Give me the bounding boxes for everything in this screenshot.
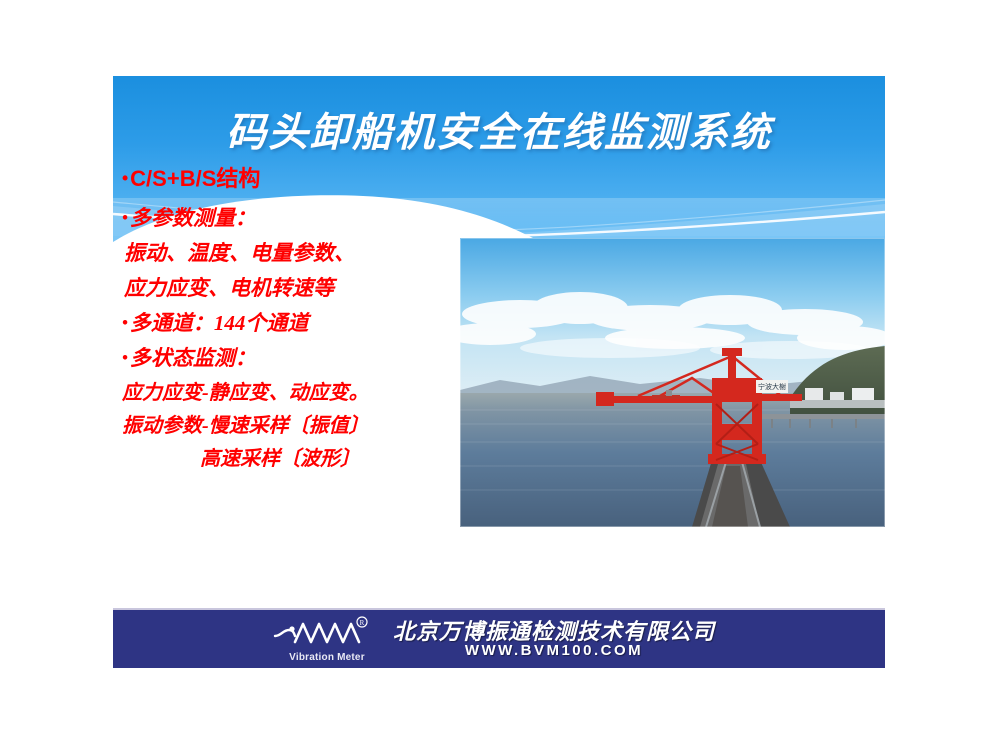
svg-text:宁波大榭: 宁波大榭 [758, 382, 786, 391]
text-param-list-1: 振动、温度、电量参数、 [122, 243, 462, 264]
bullet-multi-channel: 多通道：144个通道 [122, 313, 462, 334]
port-crane-photo-graphic: 宁波大榭 [460, 238, 885, 527]
body-text-column: C/S+B/S结构 多参数测量： 振动、温度、电量参数、 应力应变、电机转速等 … [122, 168, 462, 482]
text-param-list-2: 应力应变、电机转速等 [122, 278, 462, 299]
footer-text-block: 北京万博振通检测技术有限公司 WWW.BVM100.COM [393, 620, 715, 659]
text-state-vib-fast: 高速采样〔波形〕 [122, 449, 462, 469]
footer-content: R Vibration Meter 北京万博振通检测技术有限公司 WWW.BVM… [271, 616, 715, 662]
bullet-multi-state: 多状态监测： [122, 348, 462, 369]
page-title: 码头卸船机安全在线监测系统 [113, 100, 885, 158]
vibration-meter-logo: R Vibration Meter [271, 616, 381, 662]
svg-text:R: R [360, 619, 365, 627]
text-state-strain: 应力应变-静应变、动应变。 [122, 383, 462, 403]
footer-bar: R Vibration Meter 北京万博振通检测技术有限公司 WWW.BVM… [113, 608, 885, 668]
company-url[interactable]: WWW.BVM100.COM [393, 643, 715, 659]
logo-caption: Vibration Meter [275, 652, 379, 663]
bullet-multi-param: 多参数测量： [122, 208, 462, 229]
slide-canvas: 码头卸船机安全在线监测系统 C/S+B/S结构 多参数测量： 振动、温度、电量参… [0, 0, 1000, 750]
bullet-architecture: C/S+B/S结构 [122, 168, 462, 190]
port-crane-photo: 宁波大榭 [460, 238, 885, 527]
text-state-vib-slow: 振动参数-慢速采样〔振值〕 [122, 416, 462, 436]
waveform-logo-icon: R [271, 616, 381, 652]
company-name: 北京万博振通检测技术有限公司 [393, 620, 715, 643]
